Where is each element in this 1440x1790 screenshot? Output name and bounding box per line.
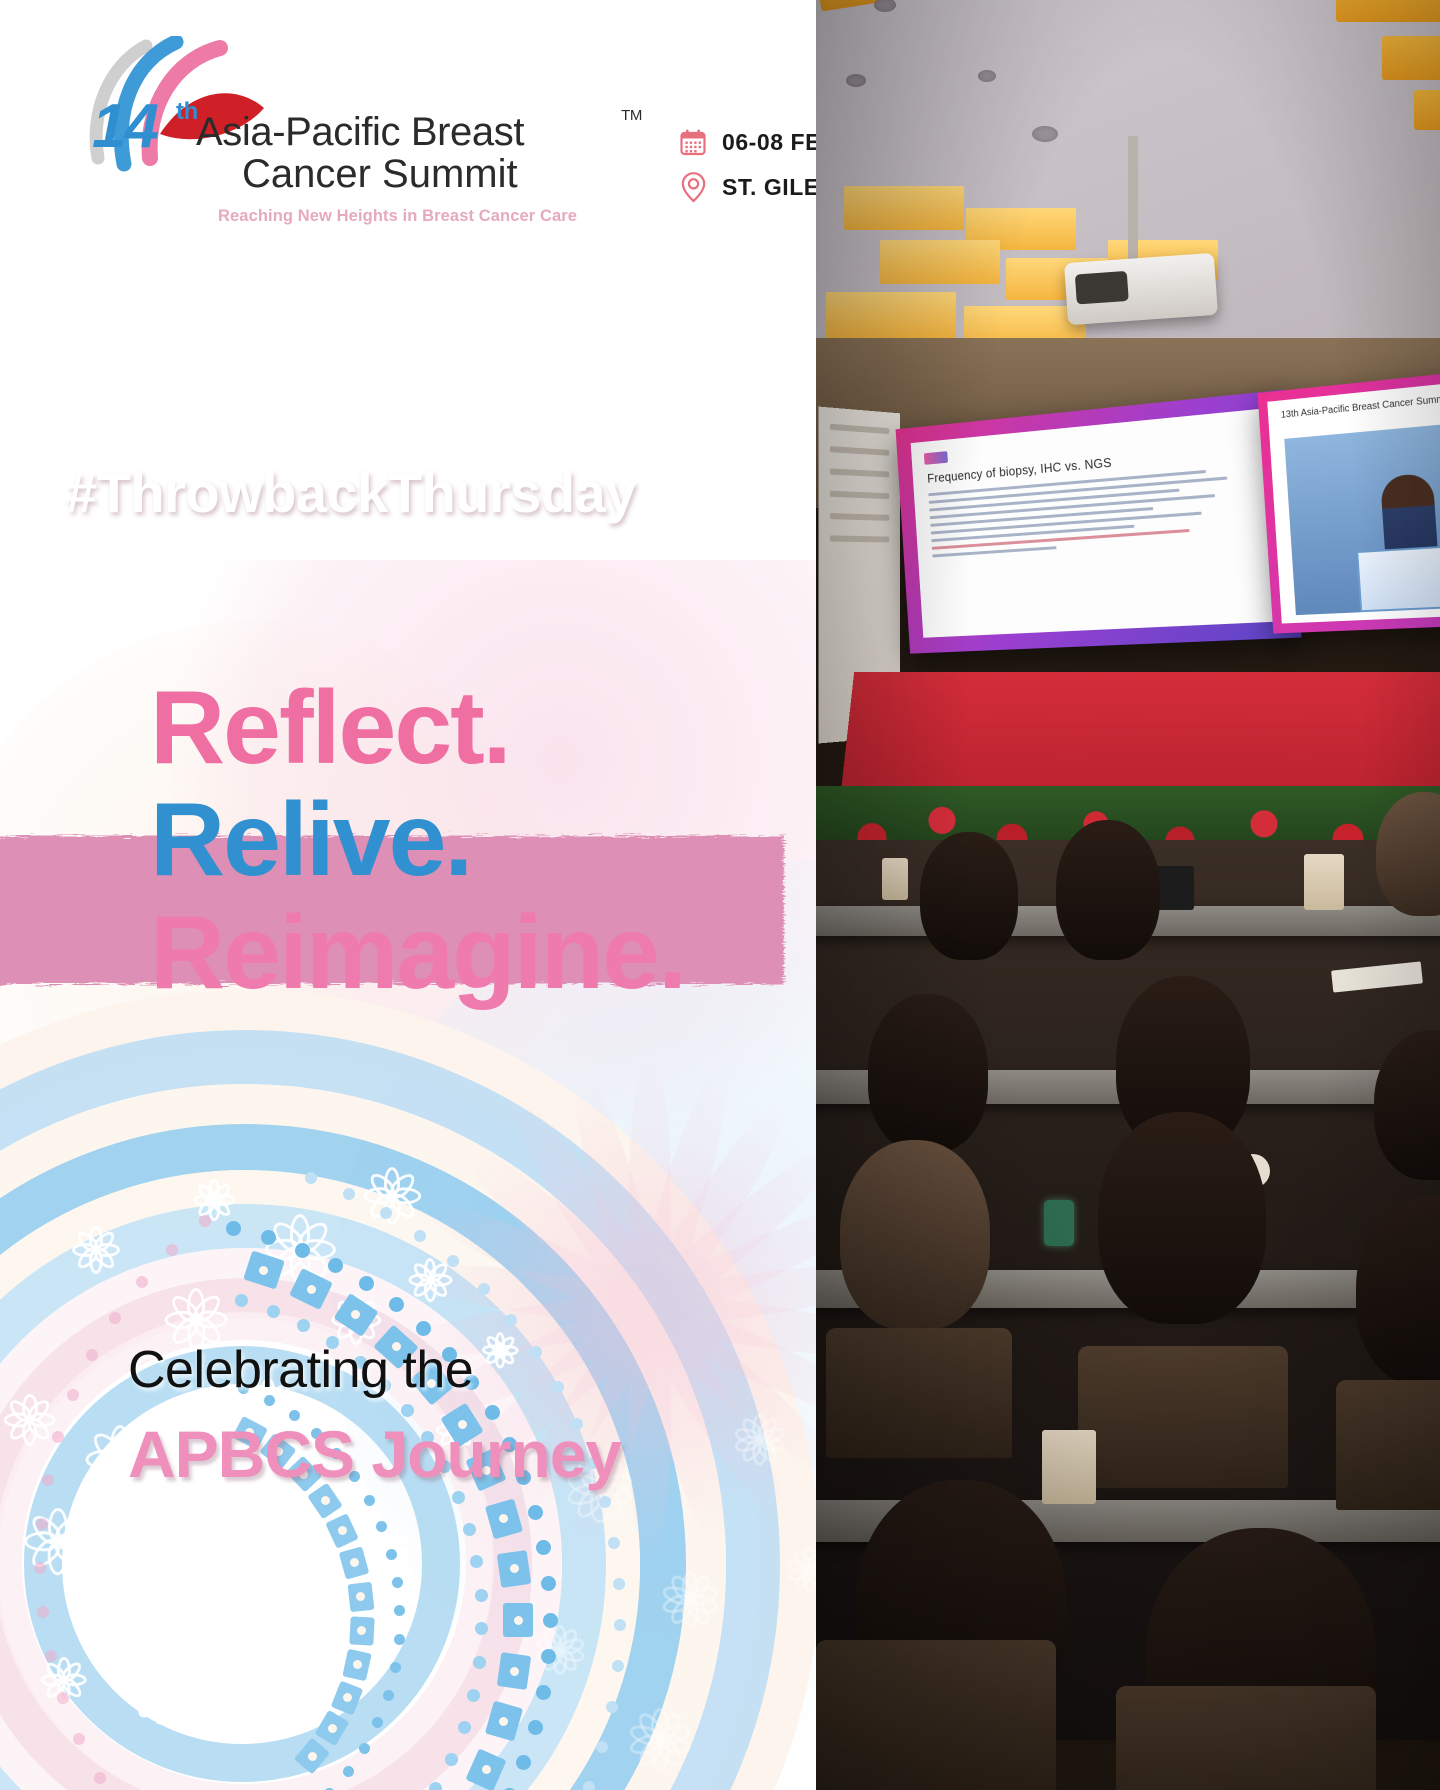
attendee-head bbox=[1374, 1030, 1440, 1180]
mandala-dot bbox=[505, 1314, 517, 1326]
mandala-dot bbox=[478, 1283, 490, 1295]
mandala-flower-icon bbox=[3, 1393, 57, 1447]
mandala-dot bbox=[528, 1720, 543, 1735]
mandala-bead-center bbox=[499, 1717, 508, 1726]
mandala-dot bbox=[473, 1656, 486, 1669]
conference-photo: Frequency of biopsy, IHC vs. NGS 13th As… bbox=[816, 0, 1440, 1790]
mandala-dot bbox=[380, 1207, 392, 1219]
mandala-dot bbox=[343, 1766, 354, 1777]
ceiling-beam bbox=[1382, 36, 1440, 80]
mandala-flower-icon bbox=[407, 1257, 453, 1303]
mandala-bead-center bbox=[350, 1558, 359, 1567]
mandala-bead bbox=[466, 1748, 507, 1790]
mandala-dot bbox=[475, 1622, 488, 1635]
audience-area bbox=[816, 840, 1440, 1740]
mandala-dot bbox=[543, 1613, 558, 1628]
audience-chair bbox=[826, 1328, 1012, 1458]
smartphone bbox=[1044, 1200, 1074, 1246]
mandala-flower-icon bbox=[23, 1507, 93, 1577]
subheading-line-2: APBCS Journey bbox=[128, 1416, 621, 1492]
mandala-dot bbox=[516, 1755, 531, 1770]
mandala-dot bbox=[297, 1319, 310, 1332]
mandala-dot bbox=[416, 1321, 431, 1336]
attendee-head bbox=[1056, 820, 1160, 960]
mandala-petal bbox=[629, 1060, 671, 1320]
mandala-flower-icon bbox=[330, 1294, 382, 1346]
mandala-dot bbox=[57, 1692, 69, 1704]
mandala-dot bbox=[199, 1215, 211, 1227]
mandala-dot bbox=[73, 1733, 85, 1745]
mandala-bead bbox=[349, 1616, 374, 1645]
paper-bag bbox=[1042, 1430, 1096, 1504]
mandala-dot bbox=[475, 1589, 488, 1602]
mandala-dot bbox=[536, 1540, 551, 1555]
mandala-petal bbox=[627, 1290, 803, 1531]
attendee-head bbox=[1356, 1196, 1440, 1386]
mandala-ring bbox=[0, 1248, 562, 1790]
audience-chair bbox=[1336, 1380, 1440, 1510]
mandala-bead-center bbox=[510, 1667, 519, 1676]
paper-bag bbox=[882, 858, 908, 900]
mandala-dot bbox=[458, 1721, 471, 1734]
attendee-head bbox=[868, 994, 988, 1152]
ceiling-beam bbox=[816, 0, 1148, 12]
mandala-dot bbox=[383, 1690, 394, 1701]
sponsor-logo-row bbox=[830, 491, 889, 499]
mandala-bead-center bbox=[321, 1496, 330, 1505]
mandala-dot bbox=[596, 1741, 608, 1753]
headline-line-3: Reimagine. bbox=[150, 897, 685, 1009]
attendee-head bbox=[920, 832, 1018, 960]
slide-logo-icon bbox=[924, 451, 948, 465]
ceiling-downlight bbox=[874, 0, 896, 12]
subheading-block: Celebrating the APBCS Journey bbox=[128, 1340, 621, 1492]
mandala-dot bbox=[541, 1649, 556, 1664]
mandala-dot bbox=[614, 1619, 626, 1631]
mandala-flower-icon bbox=[130, 1666, 190, 1726]
headline-line-2: Relive. bbox=[150, 784, 685, 896]
ceiling-light bbox=[880, 240, 1000, 284]
podium bbox=[1357, 545, 1440, 613]
mandala-bead-center bbox=[357, 1626, 366, 1635]
mandala-dot bbox=[452, 1491, 465, 1504]
mandala-dot bbox=[372, 1717, 383, 1728]
mandala-dot bbox=[389, 1297, 404, 1312]
projector-mount-rod bbox=[1128, 136, 1138, 262]
mandala-dot bbox=[463, 1523, 476, 1536]
mandala-bead bbox=[289, 1268, 333, 1310]
mandala-flower-icon bbox=[660, 1570, 720, 1630]
mandala-dot bbox=[447, 1255, 459, 1267]
audience-chair bbox=[1116, 1686, 1376, 1790]
mandala-dot bbox=[613, 1578, 625, 1590]
location-pin-icon bbox=[678, 171, 708, 203]
logo-trademark: TM bbox=[621, 108, 642, 123]
audience-chair bbox=[1078, 1346, 1288, 1488]
mandala-flower-icon bbox=[627, 1707, 693, 1773]
mandala-bead-center bbox=[308, 1752, 317, 1761]
headline-line-1: Reflect. bbox=[150, 672, 685, 784]
mandala-flower-icon bbox=[71, 1225, 121, 1275]
sponsor-logo-row bbox=[830, 513, 889, 521]
mandala-flower-icon bbox=[370, 1524, 414, 1568]
headline-block: Reflect. Relive. Reimagine. bbox=[150, 672, 685, 1009]
mandala-dot bbox=[394, 1605, 405, 1616]
calendar-icon bbox=[678, 126, 708, 158]
mandala-dot bbox=[606, 1701, 618, 1713]
mandala-bead bbox=[243, 1250, 285, 1289]
attendee-head bbox=[1098, 1112, 1266, 1324]
mandala-dot bbox=[136, 1276, 148, 1288]
mandala-dot bbox=[599, 1496, 611, 1508]
mandala-bead bbox=[325, 1513, 359, 1549]
mandala-dot bbox=[109, 1312, 121, 1324]
mandala-dot bbox=[36, 1518, 48, 1530]
mandala-bead-center bbox=[307, 1285, 316, 1294]
mandala-dot bbox=[94, 1772, 106, 1784]
side-screen-speaker-photo bbox=[1284, 417, 1440, 615]
mandala-ring bbox=[0, 1204, 606, 1790]
ceiling-light bbox=[826, 292, 956, 338]
ceiling-light bbox=[844, 186, 964, 230]
mandala-bead-center bbox=[353, 1660, 362, 1669]
mandala-dot bbox=[328, 1258, 343, 1273]
mandala-petal bbox=[627, 1064, 741, 1325]
mandala-dot bbox=[612, 1660, 624, 1672]
mandala-dot bbox=[528, 1505, 543, 1520]
mandala-dot bbox=[445, 1753, 458, 1766]
mandala-petal bbox=[559, 1064, 673, 1325]
mandala-dot bbox=[364, 1495, 375, 1506]
mandala-dot bbox=[45, 1650, 57, 1662]
mandala-dot bbox=[470, 1555, 483, 1568]
mandala-dot bbox=[536, 1685, 551, 1700]
mandala-dot bbox=[305, 1172, 317, 1184]
ceiling-beam bbox=[1336, 0, 1440, 22]
mandala-dot bbox=[392, 1577, 403, 1588]
side-screen-logo-text: 13th Asia-Pacific Breast Cancer Summit bbox=[1281, 393, 1440, 420]
audience-chair bbox=[816, 1640, 1056, 1790]
mandala-petal bbox=[447, 1130, 671, 1332]
logo-edition-number: 14 bbox=[92, 96, 157, 158]
ceiling-downlight bbox=[846, 74, 866, 87]
mandala-dot bbox=[67, 1389, 79, 1401]
mandala-bead bbox=[315, 1710, 350, 1746]
logo-title-line1: Asia-Pacific Breast bbox=[196, 110, 524, 154]
mandala-dot bbox=[34, 1562, 46, 1574]
mandala-dot bbox=[295, 1243, 310, 1258]
mandala-bead-center bbox=[328, 1724, 337, 1733]
mandala-bead bbox=[497, 1652, 531, 1690]
mandala-flower-icon bbox=[40, 1656, 88, 1704]
mandala-bead-center bbox=[356, 1592, 365, 1601]
sponsor-logo-row bbox=[830, 424, 889, 434]
mandala-dot bbox=[166, 1244, 178, 1256]
mandala-flower-icon bbox=[192, 1178, 236, 1222]
mandala-petal bbox=[627, 1088, 803, 1329]
mandala-dot bbox=[386, 1549, 397, 1560]
mandala-dot bbox=[608, 1537, 620, 1549]
mandala-bead bbox=[497, 1550, 531, 1588]
mandala-dot bbox=[37, 1606, 49, 1618]
paper-bag bbox=[1304, 854, 1344, 910]
mandala-flower-icon bbox=[534, 1624, 586, 1676]
attendee-head bbox=[840, 1140, 990, 1330]
mandala-bead bbox=[347, 1581, 374, 1611]
mandala-dot bbox=[267, 1305, 280, 1318]
main-presentation-screen: Frequency of biopsy, IHC vs. NGS bbox=[896, 390, 1302, 654]
sponsor-logo-row bbox=[830, 446, 889, 456]
mandala-dot bbox=[261, 1230, 276, 1245]
mandala-petal bbox=[629, 1300, 671, 1560]
mandala-dot bbox=[359, 1743, 370, 1754]
presentation-slide: Frequency of biopsy, IHC vs. NGS bbox=[911, 408, 1283, 638]
mandala-dot bbox=[226, 1221, 241, 1236]
mandala-dot bbox=[390, 1662, 401, 1673]
mandala-flower-icon bbox=[183, 1491, 245, 1553]
notepad bbox=[1331, 961, 1423, 992]
logo-tagline: Reaching New Heights in Breast Cancer Ca… bbox=[196, 197, 626, 226]
ceiling bbox=[816, 0, 1440, 370]
side-screen-content: 13th Asia-Pacific Breast Cancer Summit bbox=[1267, 374, 1440, 623]
sponsor-logo-row bbox=[830, 535, 889, 542]
mandala-flower-icon bbox=[263, 1213, 337, 1287]
hashtag-banner-text: #ThrowbackThursday bbox=[66, 432, 636, 554]
mandala-petal bbox=[627, 1294, 741, 1555]
mandala-bead-center bbox=[343, 1693, 352, 1702]
mandala-flower-icon bbox=[94, 1572, 150, 1628]
mandala-bead-center bbox=[482, 1765, 491, 1774]
mandala-petal bbox=[497, 1088, 673, 1329]
mandala-bead bbox=[331, 1680, 364, 1715]
ceiling-projector bbox=[1064, 253, 1218, 325]
subheading-line-1: Celebrating the bbox=[128, 1340, 621, 1400]
logo-title-line2: Cancer Summit bbox=[196, 152, 626, 197]
mandala-petal bbox=[414, 1187, 668, 1333]
mandala-dot bbox=[414, 1230, 426, 1242]
mandala-dot bbox=[541, 1576, 556, 1591]
mandala-dot bbox=[429, 1782, 442, 1790]
mandala-bead-center bbox=[259, 1266, 268, 1275]
mandala-dot bbox=[42, 1474, 54, 1486]
mandala-dot bbox=[235, 1294, 248, 1307]
mandala-flower-icon bbox=[362, 1166, 422, 1226]
mandala-dot bbox=[86, 1349, 98, 1361]
mandala-bead bbox=[333, 1293, 378, 1337]
ceiling-downlight bbox=[978, 70, 996, 82]
projector-lens bbox=[1075, 271, 1129, 305]
mandala-bead bbox=[503, 1603, 533, 1637]
mandala-bead-center bbox=[499, 1514, 508, 1523]
mandala-flower-icon bbox=[733, 1413, 787, 1467]
mandala-bead bbox=[294, 1738, 330, 1775]
mandala-bead-center bbox=[338, 1526, 347, 1535]
mandala-bead bbox=[343, 1649, 372, 1681]
mandala-dot bbox=[376, 1521, 387, 1532]
mandala-dot bbox=[394, 1634, 405, 1645]
mandala-petal bbox=[400, 1254, 663, 1333]
logo-edition-suffix: th bbox=[176, 100, 198, 124]
mandala-flower-icon bbox=[236, 1592, 288, 1644]
mandala-bead bbox=[339, 1546, 370, 1579]
mandala-dot bbox=[583, 1781, 595, 1790]
side-presentation-screen: 13th Asia-Pacific Breast Cancer Summit bbox=[1258, 363, 1440, 634]
mandala-dot bbox=[52, 1431, 64, 1443]
mandala-dot bbox=[343, 1188, 355, 1200]
mandala-dot bbox=[467, 1689, 480, 1702]
mandala-bead-center bbox=[514, 1616, 523, 1625]
mandala-bead-center bbox=[510, 1564, 519, 1573]
mandala-bead bbox=[485, 1701, 523, 1742]
mandala-dot bbox=[359, 1276, 374, 1291]
poster-canvas: 14 th Asia-Pacific Breast TM Cancer Summ… bbox=[0, 0, 1440, 1790]
ceiling-downlight bbox=[1032, 126, 1058, 142]
ceiling-beam bbox=[1414, 90, 1440, 130]
sponsor-logo-row bbox=[830, 468, 889, 477]
mandala-bead-center bbox=[351, 1310, 360, 1319]
mandala-bead bbox=[485, 1498, 523, 1539]
